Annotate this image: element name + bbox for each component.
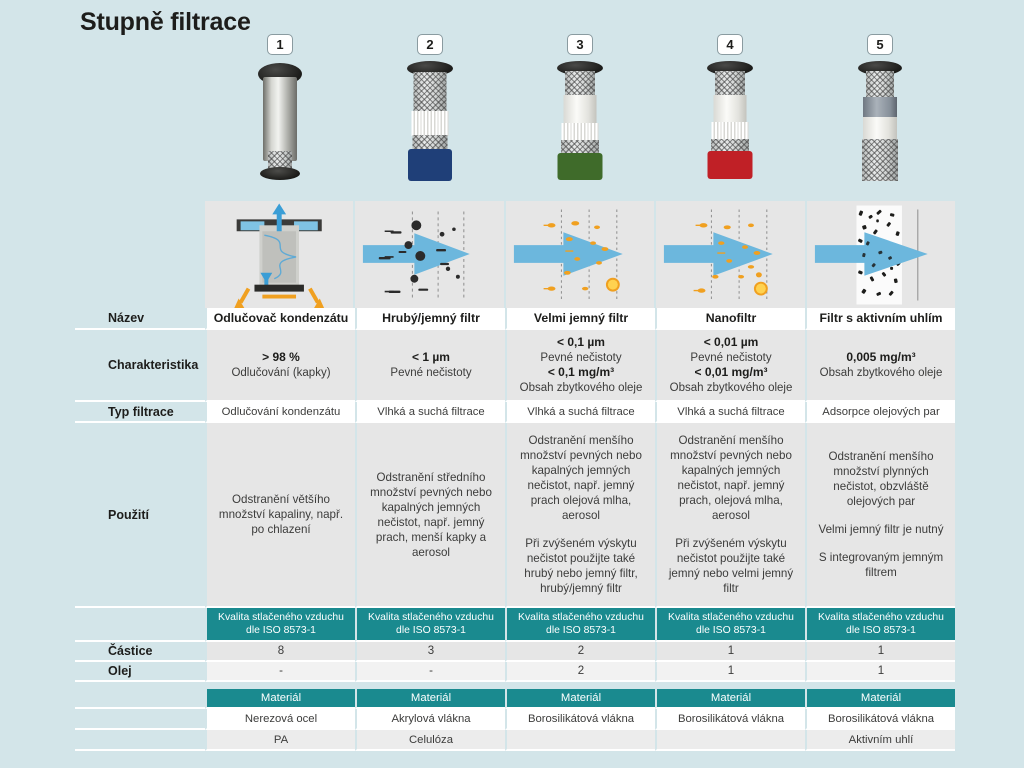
cell-material-3b (505, 730, 655, 751)
usage-paragraph: Odstranění menšího množství pevných nebo… (666, 433, 796, 523)
cell-type-3: Vlhká a suchá filtrace (505, 402, 655, 423)
cell-name-3: Velmi jemný filtr (505, 308, 655, 330)
table-row-quality-band: Kvalita stlačeného vzduchu dle ISO 8573-… (75, 608, 955, 642)
characteristic-value: < 1 µm (362, 350, 500, 366)
cell-type-1: Odlučování kondenzátu (205, 402, 355, 423)
table-spacer (75, 682, 955, 689)
table-row-particles: Částice 8 3 2 1 1 (75, 642, 955, 662)
cell-name-1: Odlučovač kondenzátu (205, 308, 355, 330)
row-label-material2-blank (75, 730, 205, 751)
product-cell-5: 5 (805, 34, 955, 201)
characteristic-value: < 0,01 µm (662, 335, 800, 351)
usage-paragraph: Velmi jemný filtr je nutný (816, 522, 946, 537)
usage-paragraph: Odstranění středního množství pevných ne… (366, 470, 496, 560)
cell-usage-2: Odstranění středního množství pevných ne… (355, 423, 505, 608)
cell-usage-3: Odstranění menšího množství pevných nebo… (505, 423, 655, 608)
cell-usage-1: Odstranění většího množství kapaliny, na… (205, 423, 355, 608)
cell-char-4: < 0,01 µmPevné nečistoty< 0,01 mg/m³Obsa… (655, 330, 805, 402)
cell-oil-3: 2 (505, 662, 655, 682)
cell-particles-5: 1 (805, 642, 955, 662)
filter-cartridge-1 (249, 59, 311, 201)
diagram-fine-droplets (506, 201, 656, 308)
usage-paragraph: Při zvýšeném výskytu nečistot použijte t… (516, 536, 646, 596)
cell-material-2a: Akrylová vlákna (355, 709, 505, 730)
cell-material-header-1: Materiál (205, 689, 355, 709)
cell-material-4a: Borosilikátová vlákna (655, 709, 805, 730)
cell-type-5: Adsorpce olejových par (805, 402, 955, 423)
filter-cartridge-3 (549, 59, 611, 201)
usage-paragraph: Odstranění menšího množství pevných nebo… (516, 433, 646, 523)
characteristic-label: Obsah zbytkového oleje (812, 366, 950, 381)
table-row-usage: Použití Odstranění většího množství kapa… (75, 423, 955, 608)
cell-oil-2: - (355, 662, 505, 682)
product-photo-band: 1 2 3 (205, 34, 955, 201)
cell-name-2: Hrubý/jemný filtr (355, 308, 505, 330)
filtration-stages-infographic: Stupně filtrace 1 2 3 (0, 0, 1024, 768)
cell-name-5: Filtr s aktivním uhlím (805, 308, 955, 330)
cell-quality-2: Kvalita stlačeného vzduchu dle ISO 8573-… (355, 608, 505, 642)
page-title: Stupně filtrace (80, 8, 251, 37)
row-label-filter-type: Typ filtrace (75, 402, 205, 423)
cell-quality-1: Kvalita stlačeného vzduchu dle ISO 8573-… (205, 608, 355, 642)
cell-char-5: 0,005 mg/m³Obsah zbytkového oleje (805, 330, 955, 402)
diagram-coarse-particles (355, 201, 505, 308)
cell-particles-4: 1 (655, 642, 805, 662)
cell-material-3a: Borosilikátová vlákna (505, 709, 655, 730)
product-cell-4: 4 (655, 34, 805, 201)
cell-oil-5: 1 (805, 662, 955, 682)
usage-paragraph: Při zvýšeném výskytu nečistot použijte t… (666, 536, 796, 596)
row-label-characteristic: Charakteristika (75, 330, 205, 402)
specification-table: Název Odlučovač kondenzátu Hrubý/jemný f… (75, 308, 955, 751)
cell-particles-1: 8 (205, 642, 355, 662)
table-row-material-header: Materiál Materiál Materiál Materiál Mate… (75, 689, 955, 709)
cell-char-1: > 98 %Odlučování (kapky) (205, 330, 355, 402)
characteristic-label: Odlučování (kapky) (212, 366, 350, 381)
cell-oil-4: 1 (655, 662, 805, 682)
characteristic-value: > 98 % (212, 350, 350, 366)
row-label-oil: Olej (75, 662, 205, 682)
filter-cartridge-5 (849, 59, 911, 201)
cell-particles-2: 3 (355, 642, 505, 662)
cell-material-2b: Celulóza (355, 730, 505, 751)
cell-material-header-4: Materiál (655, 689, 805, 709)
characteristic-label: Obsah zbytkového oleje (512, 381, 650, 396)
cell-material-5b: Aktivním uhlí (805, 730, 955, 751)
cell-usage-4: Odstranění menšího množství pevných nebo… (655, 423, 805, 608)
cell-material-header-3: Materiál (505, 689, 655, 709)
cell-oil-1: - (205, 662, 355, 682)
cell-type-4: Vlhká a suchá filtrace (655, 402, 805, 423)
cell-char-3: < 0,1 µmPevné nečistoty< 0,1 mg/m³Obsah … (505, 330, 655, 402)
cell-material-1a: Nerezová ocel (205, 709, 355, 730)
table-row-oil: Olej - - 2 1 1 (75, 662, 955, 682)
cell-quality-5: Kvalita stlačeného vzduchu dle ISO 8573-… (805, 608, 955, 642)
product-cell-1: 1 (205, 34, 355, 201)
cell-name-4: Nanofiltr (655, 308, 805, 330)
stage-number-badge: 2 (417, 34, 443, 55)
product-cell-2: 2 (355, 34, 505, 201)
row-label-quality-blank (75, 608, 205, 642)
cell-material-4b (655, 730, 805, 751)
cell-quality-3: Kvalita stlačeného vzduchu dle ISO 8573-… (505, 608, 655, 642)
characteristic-label: Obsah zbytkového oleje (662, 381, 800, 396)
characteristic-value: < 0,1 µm (512, 335, 650, 351)
stage-number-badge: 4 (717, 34, 743, 55)
filter-cartridge-2 (399, 59, 461, 201)
characteristic-value: < 0,01 mg/m³ (662, 365, 800, 381)
characteristic-label: Pevné nečistoty (662, 351, 800, 366)
stage-number-badge: 3 (567, 34, 593, 55)
cell-material-1b: PA (205, 730, 355, 751)
cell-material-5a: Borosilikátová vlákna (805, 709, 955, 730)
cell-quality-4: Kvalita stlačeného vzduchu dle ISO 8573-… (655, 608, 805, 642)
filter-cartridge-4 (699, 59, 761, 201)
characteristic-value: 0,005 mg/m³ (812, 350, 950, 366)
cell-material-header-2: Materiál (355, 689, 505, 709)
characteristic-value: < 0,1 mg/m³ (512, 365, 650, 381)
diagram-cyclone-separator (205, 201, 355, 308)
stage-number-badge: 5 (867, 34, 893, 55)
stage-number-badge: 1 (267, 34, 293, 55)
cell-type-2: Vlhká a suchá filtrace (355, 402, 505, 423)
usage-paragraph: S integrovaným jemným filtrem (816, 550, 946, 580)
table-row-name: Název Odlučovač kondenzátu Hrubý/jemný f… (75, 308, 955, 330)
row-label-particles: Částice (75, 642, 205, 662)
product-cell-3: 3 (505, 34, 655, 201)
row-label-usage: Použití (75, 423, 205, 608)
diagram-activated-carbon (807, 201, 955, 308)
table-row-material-2: PA Celulóza Aktivním uhlí (75, 730, 955, 751)
usage-paragraph: Odstranění většího množství kapaliny, na… (216, 492, 346, 537)
row-label-material1-blank (75, 709, 205, 730)
table-row-characteristic: Charakteristika > 98 %Odlučování (kapky)… (75, 330, 955, 402)
cell-particles-3: 2 (505, 642, 655, 662)
cell-char-2: < 1 µmPevné nečistoty (355, 330, 505, 402)
row-label-material-blank (75, 689, 205, 709)
diagram-nano-droplets (656, 201, 806, 308)
schematic-band (205, 201, 955, 308)
row-label-name: Název (75, 308, 205, 330)
characteristic-label: Pevné nečistoty (512, 351, 650, 366)
characteristic-label: Pevné nečistoty (362, 366, 500, 381)
cell-material-header-5: Materiál (805, 689, 955, 709)
usage-paragraph: Odstranění menšího množství plynných neč… (816, 449, 946, 509)
cell-usage-5: Odstranění menšího množství plynných neč… (805, 423, 955, 608)
table-row-filter-type: Typ filtrace Odlučování kondenzátu Vlhká… (75, 402, 955, 423)
table-row-material-1: Nerezová ocel Akrylová vlákna Borosiliká… (75, 709, 955, 730)
